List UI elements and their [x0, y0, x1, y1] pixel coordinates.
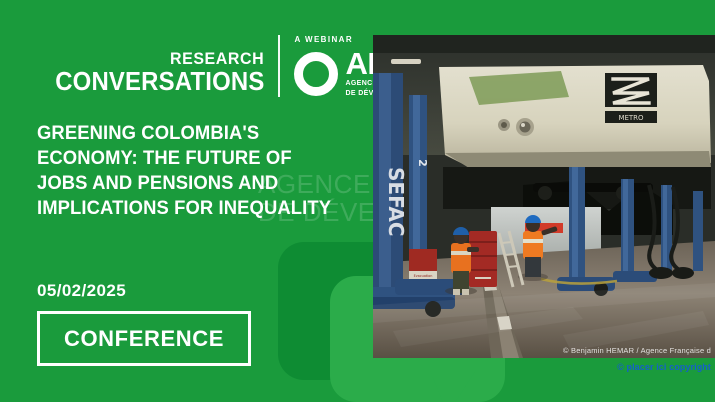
afd-ring-icon — [294, 52, 338, 96]
photo-credit: © Benjamin HEMAR / Agence Française d — [563, 346, 711, 355]
svg-text:METRO: METRO — [618, 114, 644, 122]
event-photo: METRO — [373, 35, 715, 358]
conference-category-label: CONFERENCE — [64, 326, 224, 352]
svg-text:SEFAC: SEFAC — [384, 167, 408, 237]
svg-text:2: 2 — [416, 159, 429, 167]
research-conversations-brand: RESEARCH CONVERSATIONS — [37, 50, 264, 97]
garage-photo-illustration: METRO — [373, 35, 715, 358]
event-date: 05/02/2025 — [37, 281, 126, 301]
logo-divider — [278, 35, 280, 97]
event-headline: GREENING COLOMBIA'S ECONOMY: THE FUTURE … — [37, 121, 347, 221]
brand-line-conversations: CONVERSATIONS — [55, 68, 264, 95]
svg-text:Evacuation: Evacuation — [414, 274, 433, 278]
webinar-poster: AGENCE FRANÇAISE DE DÉVELOPPEMENT RESEAR… — [0, 0, 715, 402]
conference-category-button[interactable]: CONFERENCE — [37, 311, 251, 366]
logo-bar: RESEARCH CONVERSATIONS A WEBINAR AFD AGE… — [37, 35, 425, 97]
copyright-placeholder-note: © placer ici copyright — [617, 362, 711, 372]
speech-bubble-tail-icon — [430, 370, 476, 402]
